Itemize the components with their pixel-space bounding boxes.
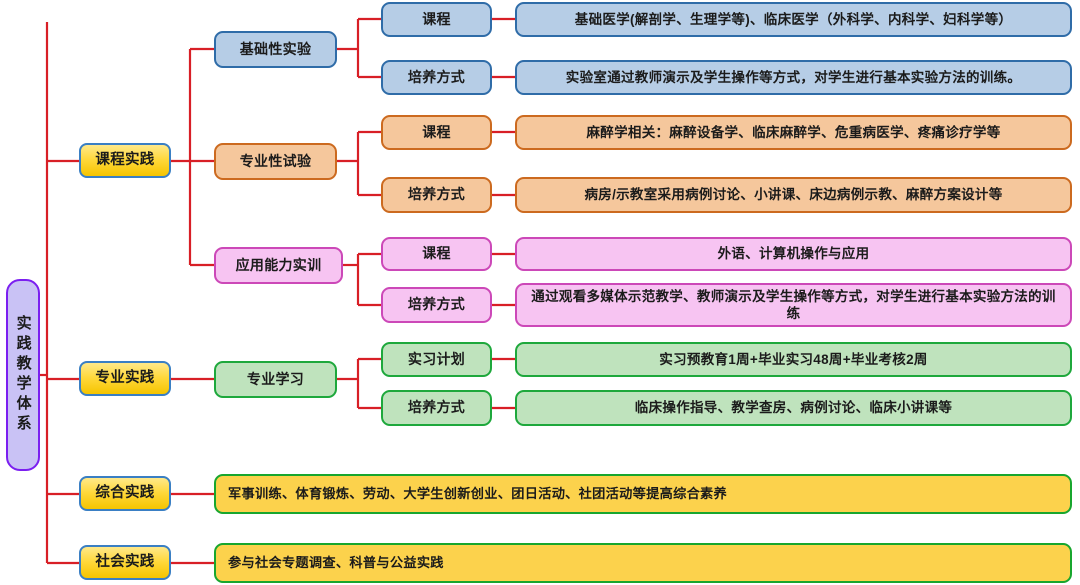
aspect-node-peiyang-pink[interactable]: 培养方式	[381, 287, 492, 323]
detail-node-peiyang-orange[interactable]: 病房/示教室采用病例讨论、小讲课、床边病例示教、麻醉方案设计等	[515, 177, 1072, 213]
aspect-label: 课程	[422, 11, 451, 29]
detail-node-kecheng-orange[interactable]: 麻醉学相关：麻醉设备学、临床麻醉学、危重病医学、疼痛诊疗学等	[515, 115, 1072, 150]
category-node-jichuxing-shiyan[interactable]: 基础性实验	[214, 31, 337, 68]
detail-text: 临床操作指导、教学查房、病例讨论、临床小讲课等	[635, 399, 952, 416]
branch-label: 社会实践	[95, 553, 154, 572]
category-node-zhuanye-xuexi[interactable]: 专业学习	[214, 361, 337, 398]
root-label: 实践教学体系	[13, 315, 32, 435]
detail-text: 基础医学(解剖学、生理学等)、临床医学（外科学、内科学、妇科学等）	[575, 11, 1012, 28]
mindmap-diagram: 实践教学体系 课程实践 专业实践 综合实践 社会实践 基础性实验 课程 培养方式…	[0, 0, 1080, 585]
aspect-node-shixi-jihua[interactable]: 实习计划	[381, 342, 492, 377]
aspect-node-peiyang-blue[interactable]: 培养方式	[381, 60, 492, 95]
branch-label: 综合实践	[95, 484, 154, 503]
detail-node-peiyang-pink[interactable]: 通过观看多媒体示范教学、教师演示及学生操作等方式，对学生进行基本实验方法的训练	[515, 283, 1072, 327]
detail-text: 参与社会专题调查、科普与公益实践	[228, 555, 444, 572]
aspect-label: 实习计划	[408, 351, 465, 369]
aspect-label: 课程	[422, 245, 451, 263]
detail-text: 病房/示教室采用病例讨论、小讲课、床边病例示教、麻醉方案设计等	[584, 186, 1002, 203]
detail-text: 实习预教育1周+毕业实习48周+毕业考核2周	[659, 351, 927, 368]
aspect-label: 培养方式	[408, 186, 465, 204]
aspect-label: 培养方式	[408, 296, 465, 314]
branch-label: 专业实践	[95, 369, 154, 388]
category-label: 专业性试验	[240, 153, 312, 171]
detail-node-zonghe-shijian[interactable]: 军事训练、体育锻炼、劳动、大学生创新创业、团日活动、社团活动等提高综合素养	[214, 474, 1072, 514]
aspect-node-kecheng-pink[interactable]: 课程	[381, 237, 492, 271]
category-label: 应用能力实训	[236, 257, 322, 275]
detail-text: 外语、计算机操作与应用	[718, 245, 870, 262]
aspect-label: 课程	[422, 124, 451, 142]
detail-text: 通过观看多媒体示范教学、教师演示及学生操作等方式，对学生进行基本实验方法的训练	[525, 288, 1062, 323]
branch-node-shehui-shijian[interactable]: 社会实践	[79, 545, 171, 580]
aspect-node-kecheng-blue[interactable]: 课程	[381, 2, 492, 37]
category-node-yingyong-nengli-shixun[interactable]: 应用能力实训	[214, 247, 343, 284]
aspect-node-kecheng-orange[interactable]: 课程	[381, 115, 492, 150]
detail-text: 实验室通过教师演示及学生操作等方式，对学生进行基本实验方法的训练。	[566, 69, 1021, 86]
aspect-node-peiyang-orange[interactable]: 培养方式	[381, 177, 492, 213]
category-node-zhuanyexing-shiyan[interactable]: 专业性试验	[214, 143, 337, 180]
branch-label: 课程实践	[95, 151, 154, 170]
branch-node-zhuanye-shijian[interactable]: 专业实践	[79, 361, 171, 396]
detail-node-shehui-shijian[interactable]: 参与社会专题调查、科普与公益实践	[214, 543, 1072, 583]
detail-node-shixi-jihua[interactable]: 实习预教育1周+毕业实习48周+毕业考核2周	[515, 342, 1072, 377]
category-label: 专业学习	[247, 371, 304, 389]
aspect-label: 培养方式	[408, 69, 465, 87]
branch-node-kecheng-shijian[interactable]: 课程实践	[79, 143, 171, 178]
detail-node-peiyang-blue[interactable]: 实验室通过教师演示及学生操作等方式，对学生进行基本实验方法的训练。	[515, 60, 1072, 95]
branch-node-zonghe-shijian[interactable]: 综合实践	[79, 476, 171, 511]
detail-node-kecheng-pink[interactable]: 外语、计算机操作与应用	[515, 237, 1072, 271]
category-label: 基础性实验	[240, 41, 312, 59]
aspect-label: 培养方式	[408, 399, 465, 417]
aspect-node-peiyang-green[interactable]: 培养方式	[381, 390, 492, 426]
detail-text: 麻醉学相关：麻醉设备学、临床麻醉学、危重病医学、疼痛诊疗学等	[587, 124, 1001, 141]
detail-text: 军事训练、体育锻炼、劳动、大学生创新创业、团日活动、社团活动等提高综合素养	[228, 486, 727, 503]
detail-node-kecheng-blue[interactable]: 基础医学(解剖学、生理学等)、临床医学（外科学、内科学、妇科学等）	[515, 2, 1072, 37]
root-node[interactable]: 实践教学体系	[6, 279, 40, 471]
detail-node-peiyang-green[interactable]: 临床操作指导、教学查房、病例讨论、临床小讲课等	[515, 390, 1072, 426]
